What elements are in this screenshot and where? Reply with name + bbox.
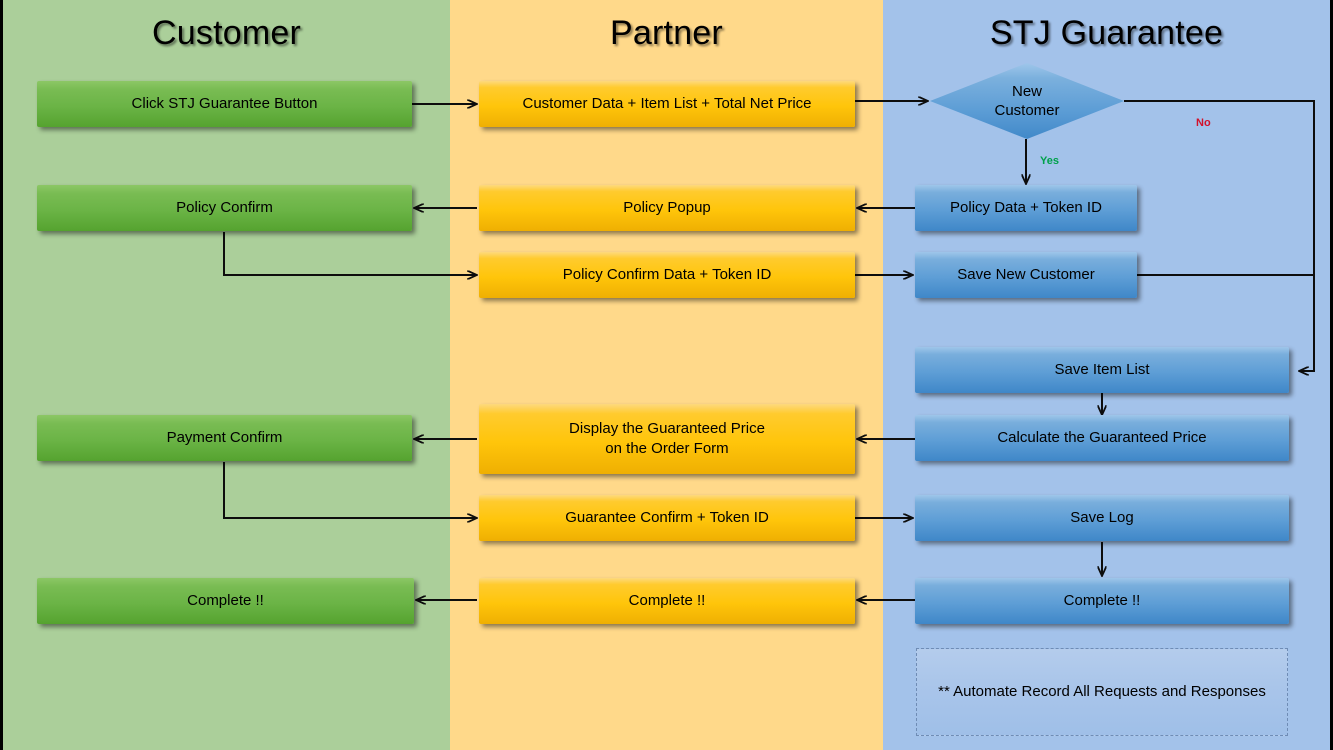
node-policy-confirm[interactable]: Policy Confirm	[37, 185, 412, 231]
node-policy-popup[interactable]: Policy Popup	[479, 185, 855, 231]
lane-title-partner: Partner	[450, 14, 883, 53]
node-label: New Customer	[930, 63, 1124, 139]
node-label: Save Log	[1070, 508, 1133, 528]
node-new-customer-decision[interactable]: New Customer	[930, 63, 1124, 139]
edge-label-yes: Yes	[1040, 155, 1059, 167]
node-click-stj-guarantee-button[interactable]: Click STJ Guarantee Button	[37, 81, 412, 127]
node-save-item-list[interactable]: Save Item List	[915, 347, 1289, 393]
node-policy-confirm-data-token-id[interactable]: Policy Confirm Data + Token ID	[479, 252, 855, 298]
edge-label-no: No	[1196, 117, 1211, 129]
node-label: Policy Data + Token ID	[950, 198, 1102, 218]
node-label: Complete !!	[187, 591, 264, 611]
node-display-guaranteed-price[interactable]: Display the Guaranteed Price on the Orde…	[479, 404, 855, 474]
node-label: Save New Customer	[957, 265, 1095, 285]
node-label: Policy Confirm	[176, 198, 273, 218]
node-label: Policy Popup	[623, 198, 711, 218]
node-label: Display the Guaranteed Price on the Orde…	[569, 419, 765, 459]
node-stj-complete[interactable]: Complete !!	[915, 578, 1289, 624]
note-text: ** Automate Record All Requests and Resp…	[938, 682, 1266, 702]
node-guarantee-confirm-token-id[interactable]: Guarantee Confirm + Token ID	[479, 495, 855, 541]
node-label: Complete !!	[629, 591, 706, 611]
node-label: Calculate the Guaranteed Price	[997, 428, 1206, 448]
node-label: Complete !!	[1064, 591, 1141, 611]
node-label: Guarantee Confirm + Token ID	[565, 508, 769, 528]
lane-title-customer: Customer	[3, 14, 450, 53]
node-label: Customer Data + Item List + Total Net Pr…	[522, 94, 811, 114]
node-label: Save Item List	[1054, 360, 1149, 380]
flowchart-canvas: Customer Partner STJ Guarantee	[0, 0, 1333, 750]
automate-record-note: ** Automate Record All Requests and Resp…	[916, 648, 1288, 736]
node-calculate-guaranteed-price[interactable]: Calculate the Guaranteed Price	[915, 415, 1289, 461]
node-customer-complete[interactable]: Complete !!	[37, 578, 414, 624]
node-policy-data-token-id[interactable]: Policy Data + Token ID	[915, 185, 1137, 231]
node-partner-complete[interactable]: Complete !!	[479, 578, 855, 624]
node-save-log[interactable]: Save Log	[915, 495, 1289, 541]
node-customer-data-item-list-total-net-price[interactable]: Customer Data + Item List + Total Net Pr…	[479, 81, 855, 127]
node-save-new-customer[interactable]: Save New Customer	[915, 252, 1137, 298]
lane-title-stj-guarantee: STJ Guarantee	[883, 14, 1330, 53]
node-payment-confirm[interactable]: Payment Confirm	[37, 415, 412, 461]
node-label: Policy Confirm Data + Token ID	[563, 265, 772, 285]
node-label: Payment Confirm	[167, 428, 283, 448]
node-label: Click STJ Guarantee Button	[132, 94, 318, 114]
